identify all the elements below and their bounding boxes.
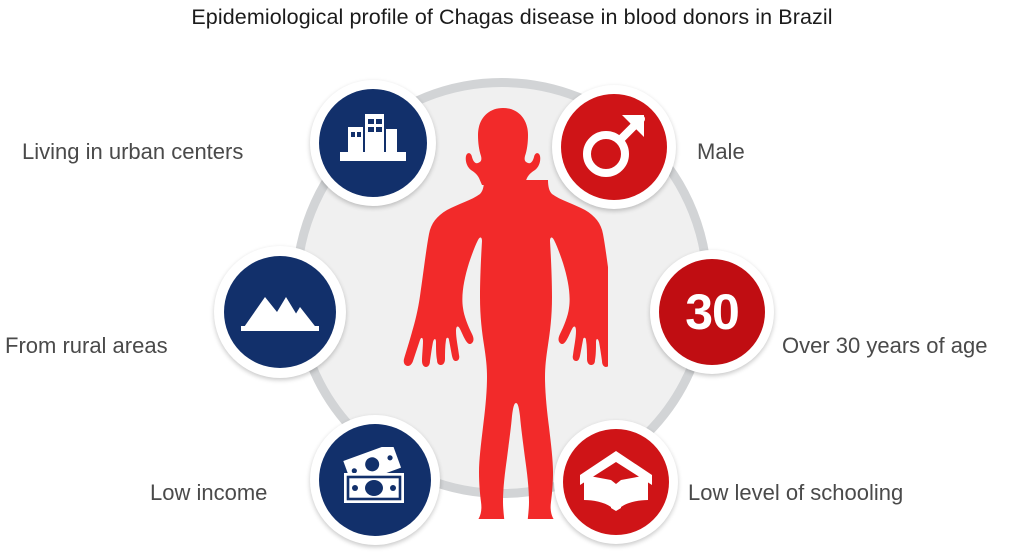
- city-buildings-icon: [337, 110, 409, 177]
- label-low-level-of-schooling: Low level of schooling: [688, 480, 903, 506]
- label-over-30-years-of-age: Over 30 years of age: [782, 333, 987, 359]
- label-low-income: Low income: [150, 480, 267, 506]
- badge-male[interactable]: [552, 85, 676, 209]
- badge-disc: [224, 256, 336, 368]
- badge-disc: [319, 424, 431, 536]
- badge-low-level-of-schooling[interactable]: [554, 420, 678, 544]
- badge-low-income[interactable]: [310, 415, 440, 545]
- banknotes-icon: [336, 447, 414, 514]
- label-living-in-urban-centers: Living in urban centers: [22, 139, 243, 165]
- badge-disc: 30: [659, 259, 765, 365]
- badge-living-in-urban-centers[interactable]: [310, 80, 436, 206]
- label-male: Male: [697, 139, 745, 165]
- mountains-icon: [241, 285, 319, 340]
- badge-disc: [319, 89, 427, 197]
- open-book-icon: [578, 447, 654, 518]
- badge-disc: [561, 94, 667, 200]
- badge-over-30-years-of-age[interactable]: 30: [650, 250, 774, 374]
- age-number-label: 30: [685, 287, 739, 337]
- badge-from-rural-areas[interactable]: [214, 246, 346, 378]
- badge-disc: [563, 429, 669, 535]
- infographic-diagram: 30: [0, 0, 1024, 555]
- label-from-rural-areas: From rural areas: [5, 333, 168, 359]
- male-gender-icon: [576, 107, 652, 188]
